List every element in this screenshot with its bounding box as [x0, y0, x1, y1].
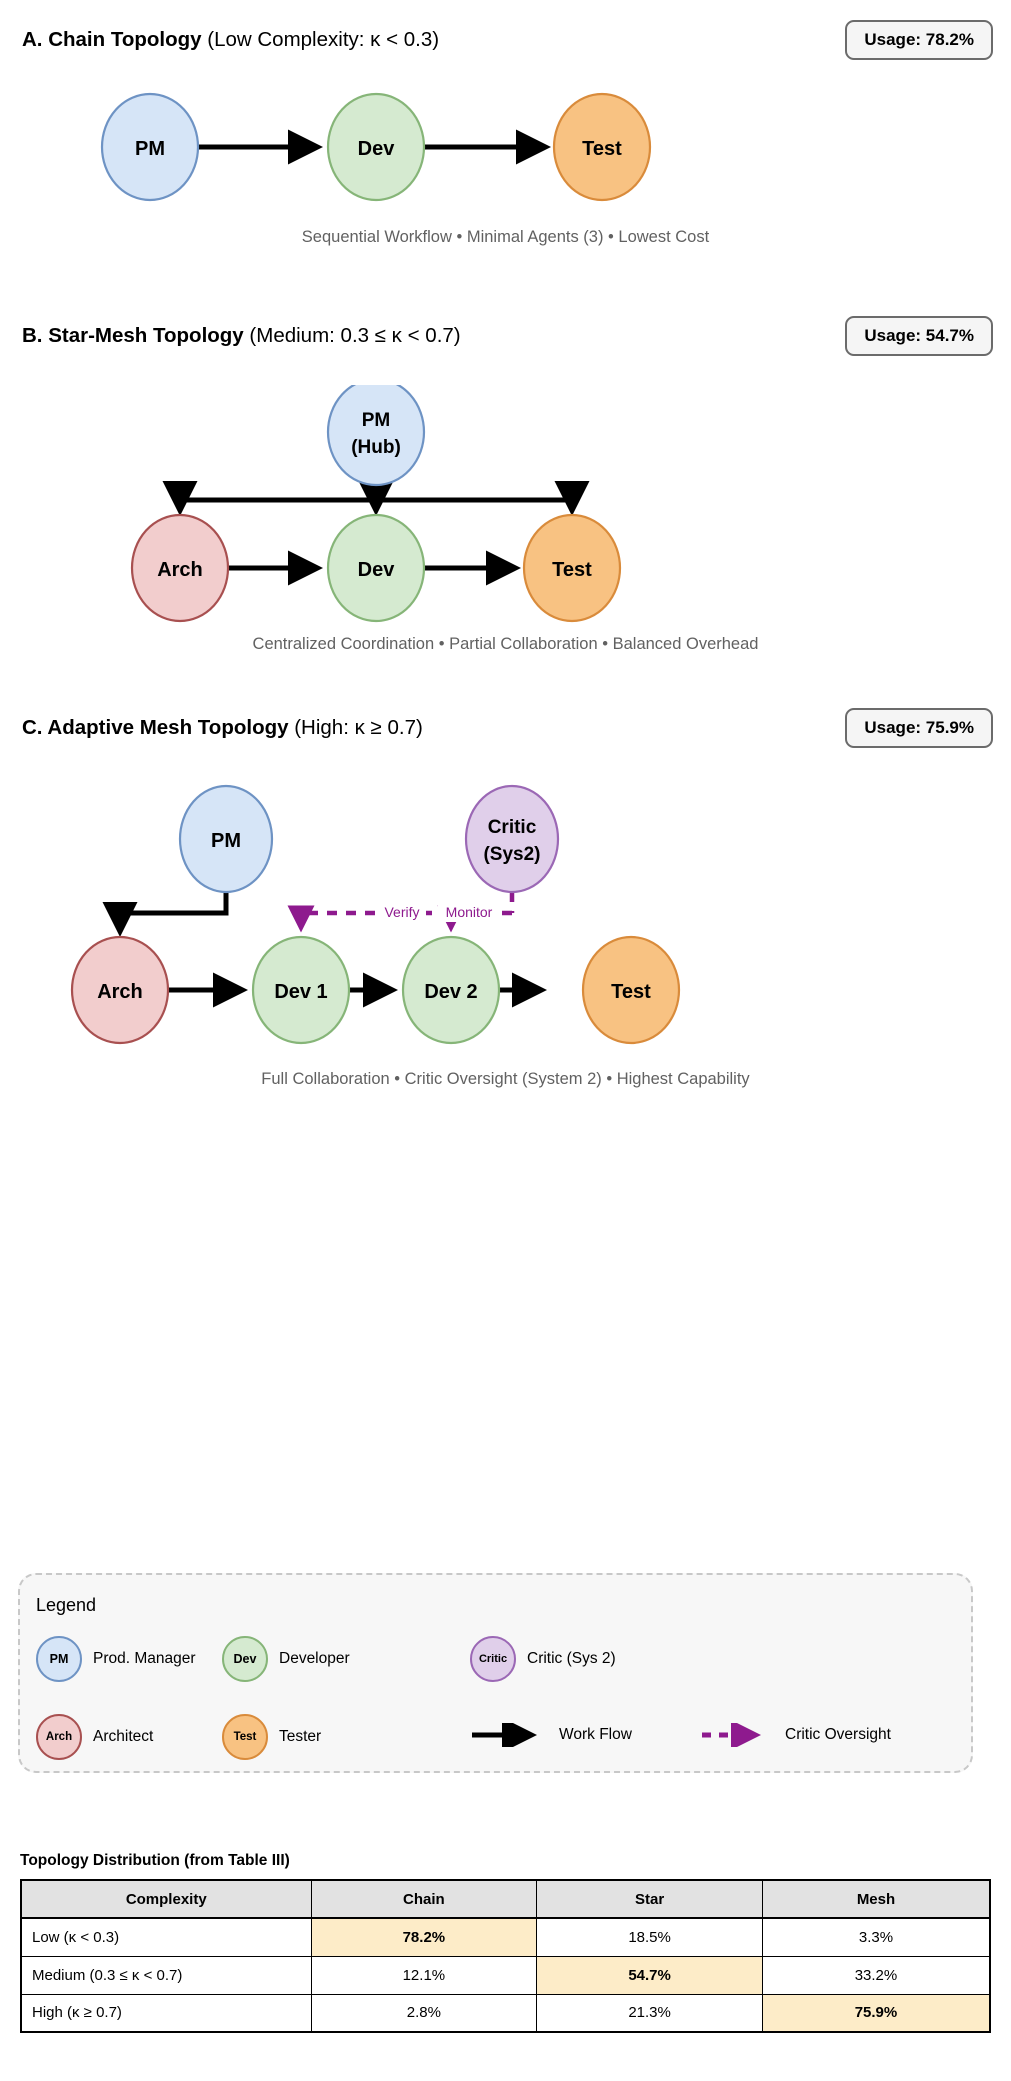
table-row: Low (κ < 0.3) 78.2% 18.5% 3.3% — [21, 1918, 990, 1956]
table-cell-low-chain: 78.2% — [311, 1918, 537, 1956]
work-flow-arrow-icon — [470, 1723, 548, 1747]
node-test-label: Test — [611, 981, 651, 1003]
node-pm-label: PM — [211, 830, 241, 852]
node-test-label: Test — [582, 138, 622, 160]
legend-chip-critic: Critic — [470, 1636, 516, 1682]
legend-item-developer: Dev Developer — [222, 1636, 350, 1682]
legend-chip-pm: PM — [36, 1636, 82, 1682]
node-pm[interactable]: PM — [102, 94, 198, 200]
node-dev-label: Dev — [358, 559, 396, 581]
legend-item-tester: Test Tester — [222, 1714, 321, 1760]
panel-b-diagram: PM (Hub) Arch Dev Test — [0, 385, 1011, 625]
panel-c-title: C. Adaptive Mesh Topology (High: κ ≥ 0.7… — [22, 702, 423, 754]
node-test[interactable]: Test — [554, 94, 650, 200]
node-dev-2-label: Dev 2 — [424, 981, 477, 1003]
table-caption: Topology Distribution (from Table III) — [20, 1852, 290, 1870]
panel-b-title-bold: B. Star-Mesh Topology — [22, 324, 244, 347]
panel-a-caption: Sequential Workflow • Minimal Agents (3)… — [0, 228, 1011, 247]
node-pm-label: PM — [135, 138, 165, 160]
legend-chip-arch: Arch — [36, 1714, 82, 1760]
panel-b-caption: Centralized Coordination • Partial Colla… — [0, 635, 1011, 654]
table-cell-low-star: 18.5% — [537, 1918, 763, 1956]
panel-c-title-light: (High: κ ≥ 0.7) — [289, 716, 423, 739]
topology-distribution-table: Complexity Chain Star Mesh Low (κ < 0.3)… — [20, 1879, 991, 2033]
node-critic[interactable]: Critic (Sys2) — [466, 786, 558, 892]
panel-b-header: B. Star-Mesh Topology (Medium: 0.3 ≤ κ <… — [0, 310, 1011, 362]
node-test[interactable]: Test — [583, 937, 679, 1043]
edge-label-monitor: Monitor — [446, 904, 493, 920]
node-pm[interactable]: PM — [180, 786, 272, 892]
node-pm-hub[interactable]: PM (Hub) — [328, 385, 424, 485]
legend-item-critic: Critic Critic (Sys 2) — [470, 1636, 616, 1682]
node-dev-2[interactable]: Dev 2 — [403, 937, 499, 1043]
legend-label-dev: Developer — [279, 1650, 350, 1668]
panel-c-title-bold: C. Adaptive Mesh Topology — [22, 716, 289, 739]
legend-item-product-manager: PM Prod. Manager — [36, 1636, 196, 1682]
panel-a-title: A. Chain Topology (Low Complexity: κ < 0… — [22, 14, 439, 66]
panel-c-header: C. Adaptive Mesh Topology (High: κ ≥ 0.7… — [0, 702, 1011, 754]
legend-item-work-flow: Work Flow — [470, 1723, 632, 1747]
table-cell-high-chain: 2.8% — [311, 1994, 537, 2032]
legend-item-architect: Arch Architect — [36, 1714, 153, 1760]
table-row-label-medium: Medium (0.3 ≤ κ < 0.7) — [21, 1956, 311, 1994]
legend-chip-test: Test — [222, 1714, 268, 1760]
critic-oversight-arrow-icon — [700, 1723, 774, 1747]
node-dev-1[interactable]: Dev 1 — [253, 937, 349, 1043]
node-pm-hub-label-2: (Hub) — [351, 437, 401, 458]
table-cell-medium-chain: 12.1% — [311, 1956, 537, 1994]
node-dev[interactable]: Dev — [328, 515, 424, 621]
table-col-mesh: Mesh — [762, 1880, 990, 1918]
node-arch-label: Arch — [157, 559, 203, 581]
panel-a-title-light: (Low Complexity: κ < 0.3) — [202, 28, 440, 51]
legend-item-critic-oversight: Critic Oversight — [700, 1723, 891, 1747]
table-cell-medium-mesh: 33.2% — [762, 1956, 990, 1994]
panel-a-diagram: PM Dev Test — [0, 86, 1011, 216]
legend-label-test: Tester — [279, 1728, 321, 1746]
table-cell-medium-star: 54.7% — [537, 1956, 763, 1994]
panel-a-header: A. Chain Topology (Low Complexity: κ < 0… — [0, 14, 1011, 66]
table-cell-high-mesh: 75.9% — [762, 1994, 990, 2032]
panel-c-usage-badge[interactable]: Usage: 75.9% — [845, 708, 993, 748]
table-row: Medium (0.3 ≤ κ < 0.7) 12.1% 54.7% 33.2% — [21, 1956, 990, 1994]
legend-label-critic-oversight: Critic Oversight — [785, 1726, 891, 1744]
legend-label-arch: Architect — [93, 1728, 153, 1746]
node-test[interactable]: Test — [524, 515, 620, 621]
node-dev-label: Dev — [358, 138, 396, 160]
node-arch-label: Arch — [97, 981, 143, 1003]
panel-a-usage-badge[interactable]: Usage: 78.2% — [845, 20, 993, 60]
legend-chip-dev: Dev — [222, 1636, 268, 1682]
table-header-row: Complexity Chain Star Mesh — [21, 1880, 990, 1918]
legend-label-pm: Prod. Manager — [93, 1650, 196, 1668]
table-row-label-low: Low (κ < 0.3) — [21, 1918, 311, 1956]
edge-label-verify: Verify — [384, 904, 419, 920]
node-dev-1-label: Dev 1 — [274, 981, 327, 1003]
node-dev[interactable]: Dev — [328, 94, 424, 200]
node-pm-hub-label-1: PM — [362, 410, 391, 431]
table-cell-low-mesh: 3.3% — [762, 1918, 990, 1956]
node-arch[interactable]: Arch — [132, 515, 228, 621]
panel-b-title-light: (Medium: 0.3 ≤ κ < 0.7) — [244, 324, 461, 347]
table-col-chain: Chain — [311, 1880, 537, 1918]
legend-title: Legend — [36, 1595, 96, 1616]
node-critic-label-2: (Sys2) — [483, 844, 540, 865]
panel-b-usage-badge[interactable]: Usage: 54.7% — [845, 316, 993, 356]
table-col-star: Star — [537, 1880, 763, 1918]
table-cell-high-star: 21.3% — [537, 1994, 763, 2032]
table-row-label-high: High (κ ≥ 0.7) — [21, 1994, 311, 2032]
panel-b-title: B. Star-Mesh Topology (Medium: 0.3 ≤ κ <… — [22, 310, 461, 362]
legend-label-work-flow: Work Flow — [559, 1726, 632, 1744]
legend-label-critic: Critic (Sys 2) — [527, 1650, 616, 1668]
table-row: High (κ ≥ 0.7) 2.8% 21.3% 75.9% — [21, 1994, 990, 2032]
node-critic-label-1: Critic — [488, 817, 537, 838]
panel-c-diagram: Verify Monitor PM Critic (Sys2) Arch Dev… — [0, 780, 1011, 1060]
node-arch[interactable]: Arch — [72, 937, 168, 1043]
node-test-label: Test — [552, 559, 592, 581]
panel-a-title-bold: A. Chain Topology — [22, 28, 202, 51]
panel-c-caption: Full Collaboration • Critic Oversight (S… — [0, 1070, 1011, 1089]
table-col-complexity: Complexity — [21, 1880, 311, 1918]
